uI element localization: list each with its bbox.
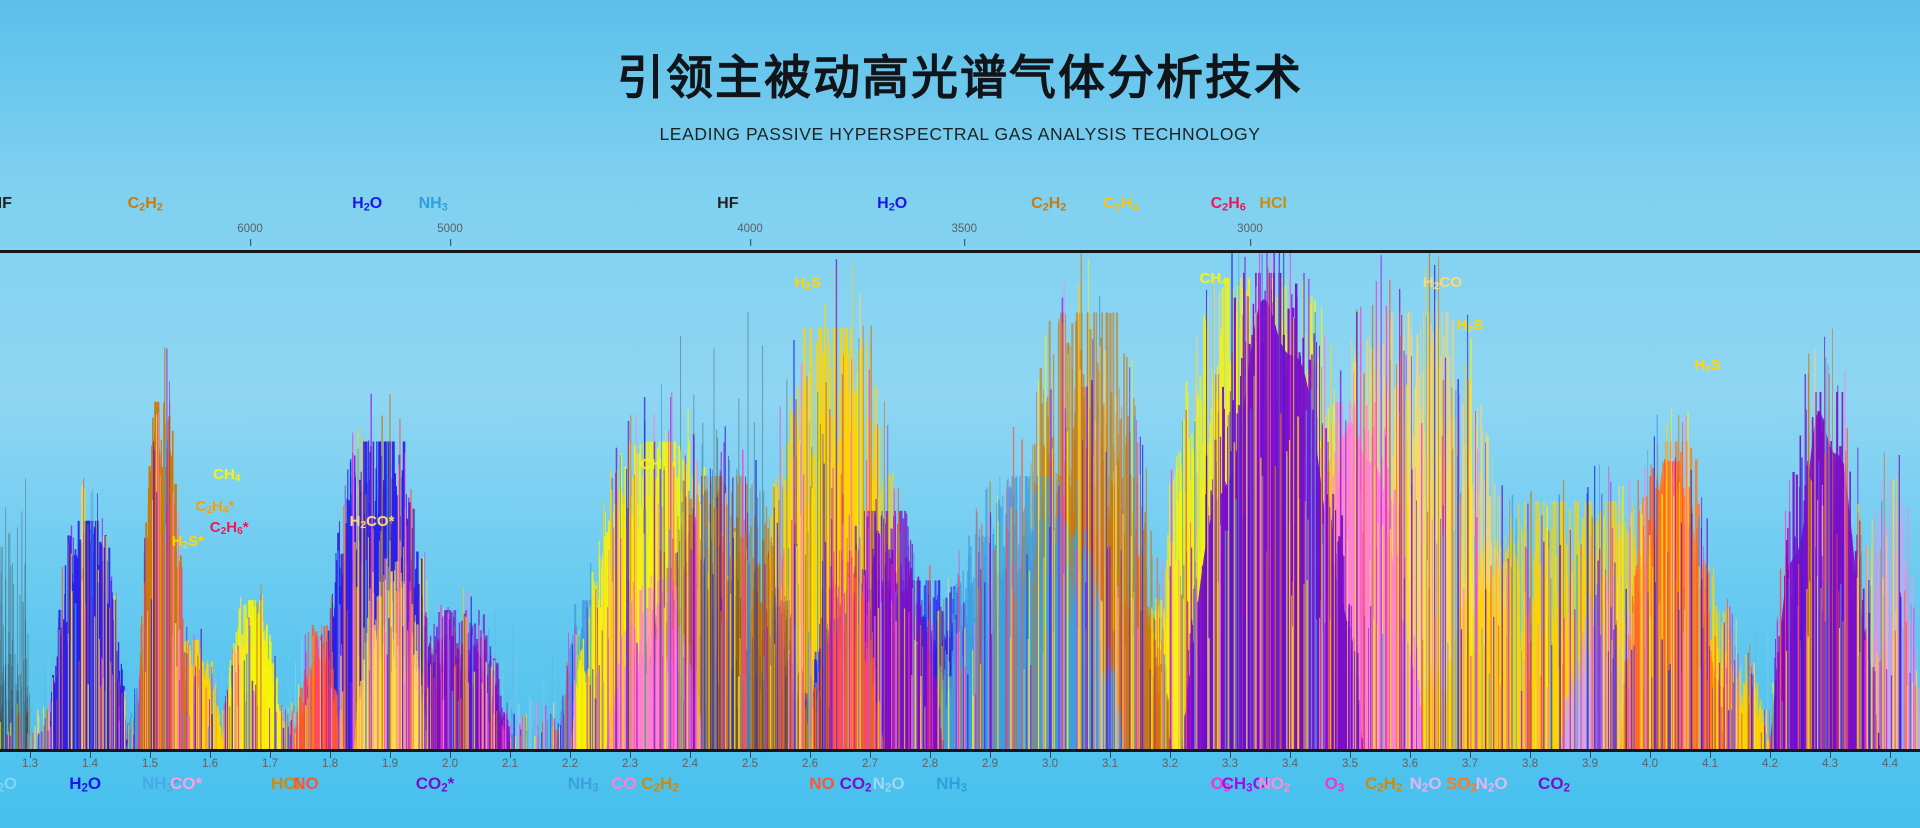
wavelength-tick: 1.6 bbox=[202, 758, 218, 770]
wavelength-tick: 1.5 bbox=[142, 758, 158, 770]
wavelength-tick: 3.0 bbox=[1042, 758, 1058, 770]
gas-label-bottom-n2o: N2O bbox=[0, 774, 17, 795]
gas-label-bottom-n2o: N2O bbox=[1476, 774, 1508, 795]
bottom-wavelength-axis: 1.31.41.51.61.71.81.92.02.12.22.32.42.52… bbox=[0, 752, 1920, 828]
spectrum-traces bbox=[0, 253, 1920, 749]
gas-label-plot-h2s: H2S* bbox=[172, 533, 204, 551]
wavelength-tick: 3.2 bbox=[1162, 758, 1178, 770]
gas-label-plot-h2s: H2S bbox=[1457, 317, 1484, 335]
gas-label-bottom-c2h2: C2H2 bbox=[1365, 774, 1402, 795]
gas-label-bottom-co2: CO2* bbox=[416, 774, 455, 795]
gas-label-bottom-no: NO bbox=[809, 774, 835, 794]
wavelength-tick: 1.7 bbox=[262, 758, 278, 770]
wavelength-tick: 4.4 bbox=[1882, 758, 1898, 770]
gas-label-bottom-n2o: N2O bbox=[873, 774, 905, 795]
wavenumber-tick: 6000 bbox=[237, 223, 263, 235]
wavelength-tick: 1.8 bbox=[322, 758, 338, 770]
wavelength-tick: 4.2 bbox=[1762, 758, 1778, 770]
wavelength-tick: 3.4 bbox=[1282, 758, 1298, 770]
wavelength-tick: 1.9 bbox=[382, 758, 398, 770]
gas-label-plot-ch4: CH4 bbox=[1200, 270, 1227, 288]
wavenumber-tick: 5000 bbox=[437, 223, 463, 235]
gas-label-bottom-no2: NO2 bbox=[1258, 774, 1290, 795]
wavelength-tick: 2.7 bbox=[862, 758, 878, 770]
wavelength-tick: 2.0 bbox=[442, 758, 458, 770]
gas-label-plot-ch4: CH4 bbox=[213, 466, 240, 484]
gas-label-bottom-o3: O3 bbox=[1325, 774, 1345, 795]
gas-label-bottom-nh3: NH3 bbox=[568, 774, 599, 795]
wavelength-tick: 2.2 bbox=[562, 758, 578, 770]
wavelength-tick: 2.5 bbox=[742, 758, 758, 770]
wavenumber-tick: 3500 bbox=[951, 223, 977, 235]
wavelength-tick: 2.9 bbox=[982, 758, 998, 770]
gas-label-plot-h2s: H2S bbox=[794, 274, 821, 292]
gas-label-top-c2h2: C2H2 bbox=[1031, 195, 1066, 213]
wavelength-tick: 4.0 bbox=[1642, 758, 1658, 770]
spectrum-poster: 引领主被动高光谱气体分析技术 LEADING PASSIVE HYPERSPEC… bbox=[0, 0, 1920, 828]
gas-label-top-c2h6: C2H6 bbox=[1211, 195, 1246, 213]
gas-label-bottom-no: NO bbox=[293, 774, 319, 794]
gas-label-bottom-c2h2: C2H2 bbox=[641, 774, 678, 795]
wavelength-tick: 3.9 bbox=[1582, 758, 1598, 770]
gas-label-top-c2h4: C2H4 bbox=[1103, 195, 1138, 213]
wavelength-tick: 2.6 bbox=[802, 758, 818, 770]
top-wavenumber-axis: 60005000400035003000HFC2H2H2ONH3HFH2OC2H… bbox=[0, 195, 1920, 250]
gas-label-plot-h2co: H2CO bbox=[1423, 274, 1462, 292]
wavelength-tick: 2.1 bbox=[502, 758, 518, 770]
gas-label-top-hf: HF bbox=[717, 195, 738, 213]
gas-label-top-h2o: H2O bbox=[877, 195, 907, 213]
gas-label-top-h2o: H2O bbox=[352, 195, 382, 213]
gas-label-plot-h2co: H2CO* bbox=[350, 513, 395, 531]
wavelength-tick: 4.1 bbox=[1702, 758, 1718, 770]
gas-label-plot-c2h4: C2H4* bbox=[195, 498, 234, 516]
gas-label-plot-c2h6: C2H6* bbox=[210, 519, 249, 537]
gas-label-bottom-n2o: N2O bbox=[1410, 774, 1442, 795]
gas-label-plot-h2s: H2S bbox=[1694, 357, 1721, 375]
gas-label-top-hcl: HCl bbox=[1259, 195, 1287, 213]
wavelength-tick: 3.1 bbox=[1102, 758, 1118, 770]
gas-label-bottom-co2: CO2 bbox=[840, 774, 872, 795]
gas-label-plot-ch4: CH4 bbox=[640, 456, 667, 474]
wavelength-tick: 3.6 bbox=[1402, 758, 1418, 770]
wavelength-tick: 2.8 bbox=[922, 758, 938, 770]
wavelength-tick: 1.4 bbox=[82, 758, 98, 770]
wavelength-tick: 3.8 bbox=[1522, 758, 1538, 770]
page-title: 引领主被动高光谱气体分析技术 bbox=[0, 52, 1920, 104]
wavelength-tick: 3.7 bbox=[1462, 758, 1478, 770]
wavelength-tick: 2.3 bbox=[622, 758, 638, 770]
gas-label-top-nh3: NH3 bbox=[419, 195, 448, 213]
gas-label-bottom-co: CO* bbox=[170, 774, 202, 794]
wavelength-tick: 2.4 bbox=[682, 758, 698, 770]
spectrum-plot: H2S*C2H4*C2H6*CH4H2CO*CH4H2SCH4H2COH2SH2… bbox=[0, 253, 1920, 749]
gas-label-top-c2h2: C2H2 bbox=[128, 195, 163, 213]
gas-label-bottom-so2: SO2 bbox=[1446, 774, 1477, 795]
gas-label-top-hf: HF bbox=[0, 195, 12, 213]
page-subtitle: LEADING PASSIVE HYPERSPECTRAL GAS ANALYS… bbox=[0, 124, 1920, 145]
poster-header: 引领主被动高光谱气体分析技术 LEADING PASSIVE HYPERSPEC… bbox=[0, 0, 1920, 190]
wavenumber-tick: 3000 bbox=[1237, 223, 1263, 235]
wavenumber-tick: 4000 bbox=[737, 223, 763, 235]
wavelength-tick: 4.3 bbox=[1822, 758, 1838, 770]
wavelength-tick: 3.5 bbox=[1342, 758, 1358, 770]
gas-label-bottom-h2o: H2O bbox=[69, 774, 101, 795]
wavelength-tick: 1.3 bbox=[22, 758, 38, 770]
gas-label-bottom-nh3: NH3 bbox=[936, 774, 967, 795]
wavelength-tick: 3.3 bbox=[1222, 758, 1238, 770]
gas-label-bottom-co: CO bbox=[611, 774, 637, 794]
gas-label-bottom-co2: CO2 bbox=[1538, 774, 1570, 795]
